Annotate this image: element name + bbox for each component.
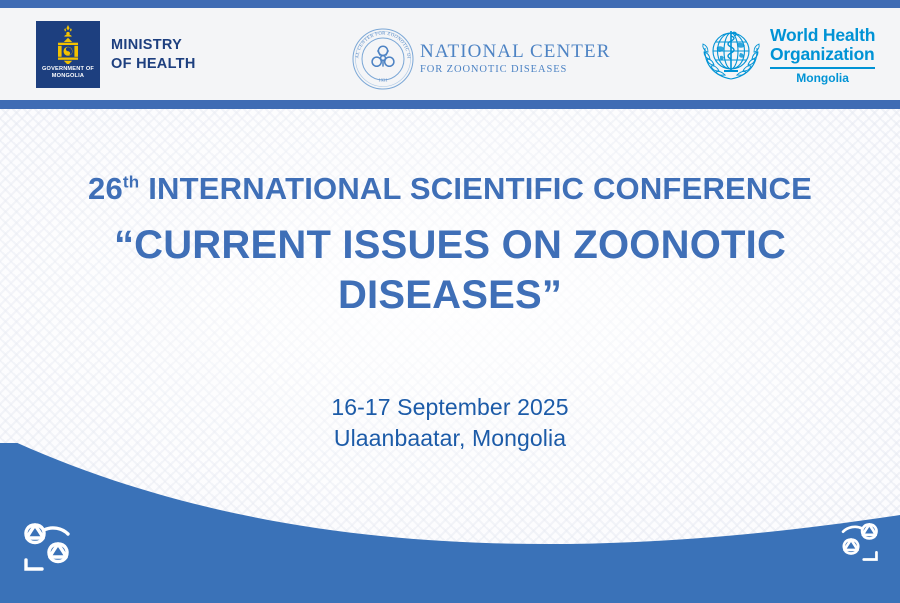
conference-number: 26	[88, 171, 123, 206]
soyombo-icon	[51, 24, 85, 64]
nczd-seal-icon: NATIONAL CENTER FOR ZOONOTIC DISEASES 19…	[352, 28, 414, 90]
ministry-label-line1: MINISTRY	[111, 36, 196, 55]
conference-heading-text: INTERNATIONAL SCIENTIFIC CONFERENCE	[148, 171, 812, 206]
emblem-caption-line1: GOVERNMENT OF	[42, 66, 94, 72]
conference-heading: 26th INTERNATIONAL SCIENTIFIC CONFERENCE	[0, 171, 900, 207]
slide-body: 26th INTERNATIONAL SCIENTIFIC CONFERENCE…	[0, 109, 900, 454]
nczd-logo: NATIONAL CENTER FOR ZOONOTIC DISEASES 19…	[352, 28, 610, 90]
ulzii-knot-ornament-right	[824, 516, 886, 573]
who-label: World Health Organization Mongolia	[770, 26, 875, 85]
nczd-label: NATIONAL CENTER FOR ZOONOTIC DISEASES	[420, 42, 610, 76]
ulzii-knot-ornament-left	[14, 516, 92, 583]
ministry-label-line2: OF HEALTH	[111, 55, 196, 74]
nczd-label-line1: NATIONAL CENTER	[420, 42, 610, 61]
who-label-line2: Organization	[770, 45, 875, 64]
mongolia-government-emblem: GOVERNMENT OF MONGOLIA	[36, 21, 100, 88]
seal-year: 1931	[378, 78, 388, 83]
mongolian-knot-icon	[14, 516, 92, 578]
who-divider	[770, 67, 875, 69]
who-label-line1: World Health	[770, 26, 875, 45]
who-country-label: Mongolia	[770, 71, 875, 85]
who-emblem-icon	[700, 26, 762, 84]
emblem-caption: GOVERNMENT OF MONGOLIA	[42, 66, 94, 80]
who-logo: World Health Organization Mongolia	[700, 26, 875, 85]
svg-text:NATIONAL CENTER FOR ZOONOTIC D: NATIONAL CENTER FOR ZOONOTIC DISEASES	[352, 28, 412, 59]
header-accent-bar	[0, 100, 900, 109]
bottom-wave-decoration	[0, 443, 900, 603]
logo-row: GOVERNMENT OF MONGOLIA MINISTRY OF HEALT…	[0, 8, 900, 100]
emblem-caption-line2: MONGOLIA	[52, 73, 84, 79]
ministry-of-health-label: MINISTRY OF HEALTH	[111, 36, 196, 74]
top-accent-bar	[0, 0, 900, 8]
page-title: “CURRENT ISSUES ON ZOONOTIC DISEASES”	[90, 220, 810, 320]
nczd-label-line2: FOR ZOONOTIC DISEASES	[420, 65, 610, 76]
ministry-of-health-logo: GOVERNMENT OF MONGOLIA MINISTRY OF HEALT…	[36, 21, 196, 88]
conference-ordinal-suffix: th	[123, 173, 139, 192]
wave-blue	[0, 443, 900, 603]
mongolian-knot-icon	[824, 516, 886, 568]
conference-title-slide: GOVERNMENT OF MONGOLIA MINISTRY OF HEALT…	[0, 0, 900, 603]
event-date: 16-17 September 2025	[0, 392, 900, 423]
